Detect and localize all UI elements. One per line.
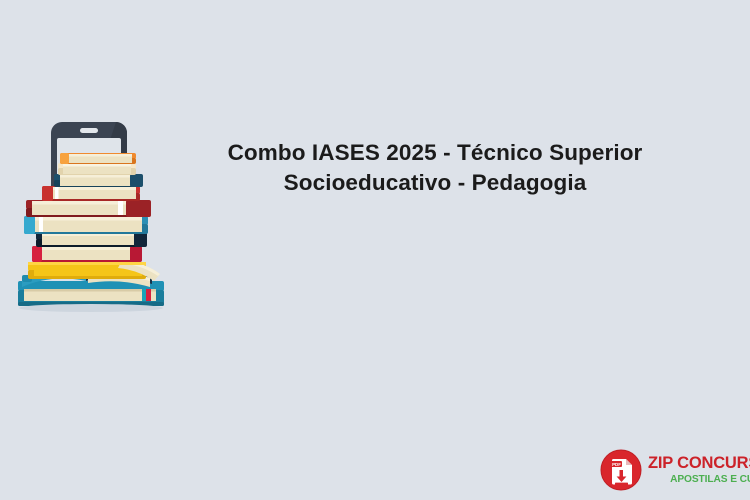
book-dark-red <box>26 200 151 217</box>
brand-tagline: APOSTILAS E CURSOS <box>648 475 750 485</box>
stack-of-books-with-smartphone-illustration <box>14 118 174 313</box>
page-title: Combo IASES 2025 - Técnico Superior Soci… <box>200 138 670 198</box>
page-title-line-2: Socioeducativo - Pedagogia <box>200 168 670 198</box>
pdf-download-circle-icon: PDF <box>600 449 642 491</box>
book-navy <box>36 232 147 247</box>
book-teal-small <box>54 174 143 187</box>
book-orange-top <box>60 153 136 164</box>
illustration-shadow <box>19 304 163 312</box>
book-yellow <box>28 260 160 281</box>
brand-logo[interactable]: PDF ZIP CONCURSOS APOSTILAS E CURSOS <box>600 446 742 494</box>
svg-text:PDF: PDF <box>612 462 621 467</box>
product-banner: Combo IASES 2025 - Técnico Superior Soci… <box>0 0 750 500</box>
book-crimson <box>32 246 142 262</box>
book-bright-blue <box>24 216 148 234</box>
book-cream <box>58 163 136 175</box>
page-title-line-1: Combo IASES 2025 - Técnico Superior <box>200 138 670 168</box>
book-cream-red-spine <box>42 186 140 201</box>
brand-logo-text: ZIP CONCURSOS APOSTILAS E CURSOS <box>648 455 750 485</box>
brand-name: ZIP CONCURSOS <box>648 455 750 472</box>
